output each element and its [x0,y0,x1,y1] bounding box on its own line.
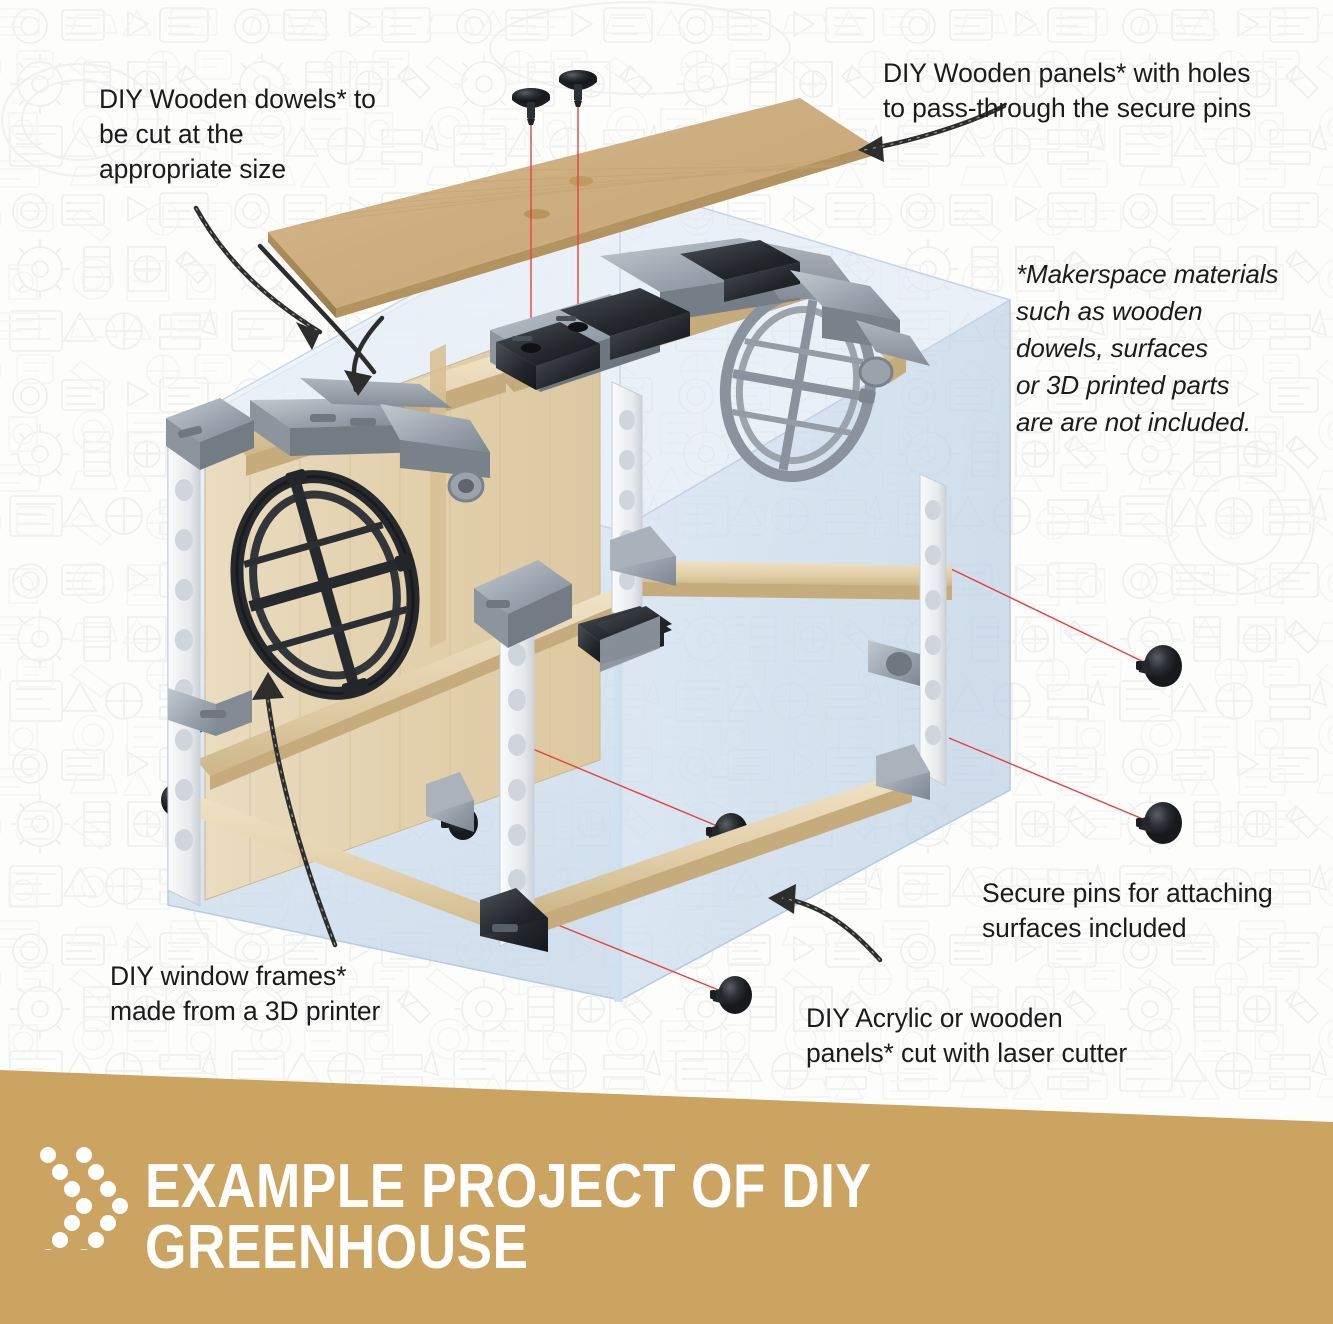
annotation-acrylic-panels: DIY Acrylic or wooden panels* cut with l… [806,1001,1196,1071]
infographic-canvas: DIY Wooden dowels* to be cut at the appr… [0,0,1333,1324]
pointer-arrow-acrylic [782,898,880,960]
annotation-dowels: DIY Wooden dowels* to be cut at the appr… [99,82,429,188]
annotation-makerspace-disclaimer: *Makerspace materials such as wooden dow… [1016,256,1316,441]
annotation-window-frames: DIY window frames* made from a 3D printe… [110,959,440,1029]
annotation-wooden-panels: DIY Wooden panels* with holes to pass-th… [883,56,1303,126]
annotation-secure-pins: Secure pins for attaching surfaces inclu… [982,876,1312,946]
banner-title: EXAMPLE PROJECT OF DIY GREENHOUSE [145,1157,1091,1279]
dotted-chevron-logo [38,1146,134,1250]
